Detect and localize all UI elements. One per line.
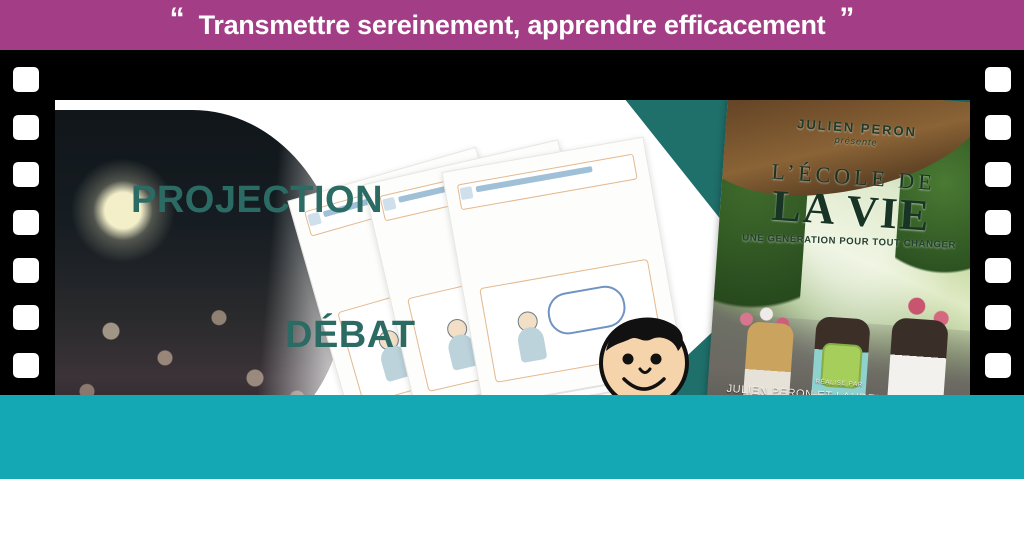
sprocket-hole [985,210,1011,235]
sprocket-hole [13,67,39,92]
sprocket-hole [13,258,39,283]
headline-projection: PROJECTION [131,179,383,222]
slogan-text: Transmettre sereinement, apprendre effic… [199,10,826,41]
sprocket-hole [985,258,1011,283]
sprocket-hole [985,305,1011,330]
event-poster: “ Transmettre sereinement, apprendre eff… [0,0,1024,535]
quote-close-icon: ” [839,4,854,34]
worksheet-number [460,186,474,200]
sprocket-hole [13,353,39,378]
sprocket-hole [985,353,1011,378]
film-strip-frame: JULIEN PERON présente L’ÉCOLE DE LA VIE … [0,50,1024,395]
film-sprockets-left [0,50,52,395]
sprocket-hole [13,115,39,140]
event-dates-band: 3 FÉVRIER 2023 Salle du Grenier à son, M… [0,395,1024,479]
sprocket-hole [13,162,39,187]
mascot-eye-right [651,354,662,365]
sponsor-logos-footer: Cofinancé par le programme Erasmus+ de l… [0,479,1024,535]
sprocket-hole [13,210,39,235]
sprocket-hole [985,115,1011,140]
mascot-eye-left [623,354,634,365]
sprocket-hole [985,162,1011,187]
slogan-banner: “ Transmettre sereinement, apprendre eff… [0,0,1024,50]
poster-artwork: JULIEN PERON présente L’ÉCOLE DE LA VIE … [55,100,970,445]
worksheet-figure-body [516,325,548,363]
movie-poster-lecole-de-la-vie: JULIEN PERON présente L’ÉCOLE DE LA VIE … [704,100,970,445]
film-sprockets-right [972,50,1024,395]
headline-debat: DÉBAT [285,314,416,357]
sprocket-hole [985,67,1011,92]
quote-open-icon: “ [170,4,185,34]
sprocket-hole [13,305,39,330]
movie-title-block: JULIEN PERON présente L’ÉCOLE DE LA VIE … [718,111,970,256]
